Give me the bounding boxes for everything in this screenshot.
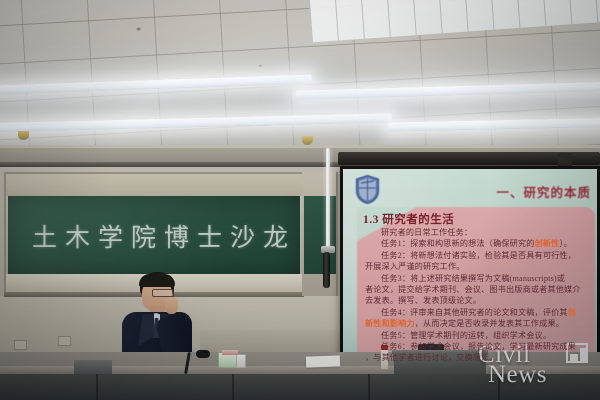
skylight-mullion [387, 0, 391, 37]
slide-body: 研究者的日常工作任务： 任务1：探索和构思新的想法（确保研究的创新性）。 任务2… [365, 227, 591, 364]
slide-line: ，与其他学者进行讨论，交换想法。 [365, 352, 591, 363]
skylight-mullion [438, 0, 442, 33]
ceiling-mark [259, 65, 262, 67]
wall-socket[interactable] [58, 336, 71, 346]
slide-line: 任务6：参加学术会议，报告论文，学习最新研究成果 [365, 341, 591, 352]
slide-highlight-word: 新性和影响力 [365, 319, 415, 328]
wall-socket-2[interactable] [14, 340, 27, 350]
blackboard-top-shade [6, 174, 302, 196]
skylight-mullion [542, 0, 546, 26]
paper-stack [306, 355, 340, 367]
university-shield-logo [355, 175, 380, 204]
slide-highlight-word: 创新性 [535, 239, 560, 248]
pendant-lamp-cup-right [302, 136, 313, 145]
skylight-mullion [594, 0, 598, 22]
desk-panel-seam [368, 374, 370, 400]
presenter-hand [165, 297, 178, 314]
blackboard-text: 土木学院博士沙龙 [32, 218, 296, 254]
ceiling-microphone-pole [326, 148, 330, 252]
skylight-mullion [490, 0, 494, 30]
skylight-mullion [464, 0, 468, 32]
slide-line: 任务4：评审来自其他研究者的论文和文稿，评价其创 [365, 307, 591, 318]
classroom-photo: 土木学院博士沙龙 一、研究的本质 1.3 研究者的生活 研究者的日常工作任务： [0, 0, 600, 400]
slide-line: 任务2：将新想法付诸实验，检验其是否具有可行性， [365, 250, 591, 261]
slide-line: 任务5：管理学术期刊的运转，组织学术会议。 [365, 330, 591, 341]
slide-highlight-word: 创 [568, 308, 576, 317]
slide-line-text: 任务1：探索和构思新的想法（确保研究的创新性）。 [381, 239, 572, 248]
slide-line: 任务1：探索和构思新的想法（确保研究的创新性）。 [365, 238, 591, 249]
slide-line: 新性和影响力，从而决定是否收录并发表其工作成果。 [365, 318, 591, 329]
slide-line: 研究者的日常工作任务： [365, 227, 591, 238]
white-box [236, 354, 246, 368]
slide-line: 者论文，提交给学术期刊、会议、图书出版商或者其他媒介 [365, 284, 591, 295]
slide-section-heading: 1.3 研究者的生活 [363, 211, 454, 227]
desk-front-panel [0, 374, 600, 400]
slide-title: 一、研究的本质 [496, 182, 591, 201]
presenter-glasses [152, 289, 174, 297]
skylight-mullion [413, 0, 417, 35]
skylight-mullion [361, 0, 365, 39]
projection-screen-bezel: 一、研究的本质 1.3 研究者的生活 研究者的日常工作任务： 任务1：探索和构思… [340, 166, 600, 369]
pendant-lamp-cup-left [18, 131, 29, 140]
slide-line: 任务3：将上述研究结果撰写为文稿(manuscripts)或 [365, 273, 591, 284]
desk-panel-seam [232, 374, 234, 400]
skylight-mullion [516, 0, 520, 28]
presenter-hair-front [139, 274, 175, 287]
side-cabinet [74, 360, 112, 374]
projected-slide: 一、研究的本质 1.3 研究者的生活 研究者的日常工作任务： 任务1：探索和构思… [343, 169, 597, 366]
blackboard: 土木学院博士沙龙 [8, 196, 300, 274]
desk-panel-seam [498, 374, 500, 400]
red-box-lid [222, 350, 238, 355]
ceiling [0, 0, 600, 150]
skylight-mullion [335, 0, 339, 41]
desk-microphone-head [196, 350, 210, 358]
blackboard-side-green [304, 196, 336, 274]
slide-line: 开展深入严谨的研究工作。 [365, 261, 591, 272]
ceiling-mark [137, 27, 141, 30]
desk-panel-seam [96, 374, 98, 400]
slide-line: 去发表。撰写、发表顶级论文。 [365, 295, 591, 306]
skylight-mullion [568, 0, 572, 24]
blackboard-side-section [302, 172, 338, 296]
ceiling-boom-microphone [323, 252, 330, 288]
